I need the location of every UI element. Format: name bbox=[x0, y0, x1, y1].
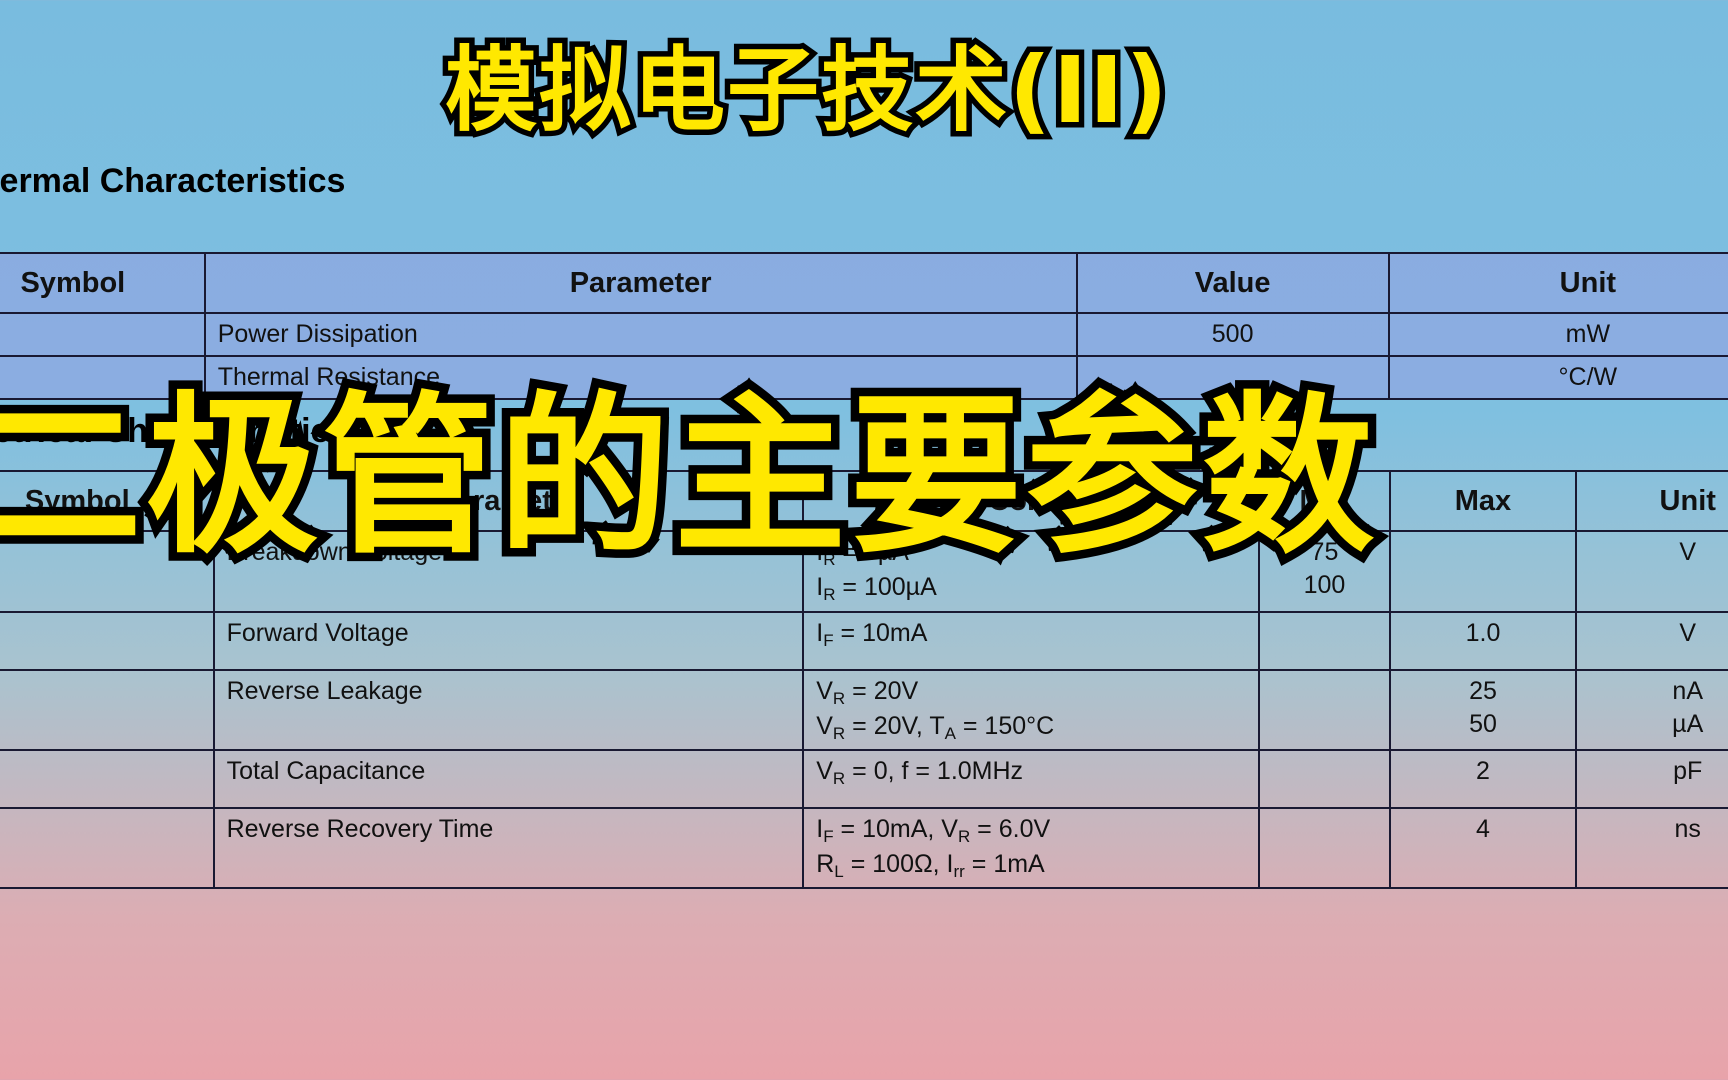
table-header-row: Symbol Parameter Value Unit bbox=[0, 253, 1728, 313]
cell-symbol bbox=[0, 670, 214, 750]
cell-test-conditions: IF = 10mA bbox=[803, 612, 1259, 670]
cell-unit: pF bbox=[1576, 750, 1728, 808]
cell-max: 1.0 bbox=[1390, 612, 1577, 670]
cell-unit: V bbox=[1576, 531, 1728, 611]
thermal-characteristics-heading: Thermal Characteristics bbox=[0, 162, 345, 201]
cell-max: 2 bbox=[1390, 750, 1577, 808]
cell-test-conditions: VR = 20VVR = 20V, TA = 150°C bbox=[803, 670, 1259, 750]
column-header-unit: Unit bbox=[1389, 253, 1728, 313]
cell-max bbox=[1390, 531, 1577, 611]
column-header-unit: Unit bbox=[1576, 471, 1728, 531]
cell-unit: mW bbox=[1389, 313, 1728, 356]
column-header-max: Max bbox=[1390, 471, 1577, 531]
cell-min bbox=[1259, 750, 1389, 808]
table-row: Reverse Recovery TimeIF = 10mA, VR = 6.0… bbox=[0, 808, 1728, 888]
topic-title-overlay: 二极管的主要参数 bbox=[0, 336, 1378, 586]
cell-unit: V bbox=[1576, 612, 1728, 670]
course-title-overlay: 模拟电子技术(II) bbox=[445, 16, 1170, 149]
cell-min bbox=[1259, 612, 1389, 670]
column-header-value: Value bbox=[1077, 253, 1389, 313]
cell-symbol bbox=[0, 750, 214, 808]
column-header-symbol: Symbol bbox=[0, 253, 205, 313]
cell-symbol bbox=[0, 612, 214, 670]
cell-parameter: Reverse Recovery Time bbox=[214, 808, 804, 888]
cell-test-conditions: IF = 10mA, VR = 6.0VRL = 100Ω, Irr = 1mA bbox=[803, 808, 1259, 888]
cell-max: 2550 bbox=[1390, 670, 1577, 750]
table-row: Total CapacitanceVR = 0, f = 1.0MHz2pF bbox=[0, 750, 1728, 808]
cell-unit: nAµA bbox=[1576, 670, 1728, 750]
cell-unit: °C/W bbox=[1389, 356, 1728, 399]
cell-min bbox=[1259, 808, 1389, 888]
cell-symbol bbox=[0, 808, 214, 888]
cell-parameter: Total Capacitance bbox=[214, 750, 804, 808]
cell-parameter: Forward Voltage bbox=[214, 612, 804, 670]
cell-max: 4 bbox=[1390, 808, 1577, 888]
cell-min bbox=[1259, 670, 1389, 750]
column-header-parameter: Parameter bbox=[205, 253, 1077, 313]
cell-parameter: Reverse Leakage bbox=[214, 670, 804, 750]
cell-test-conditions: VR = 0, f = 1.0MHz bbox=[803, 750, 1259, 808]
table-row: Forward VoltageIF = 10mA1.0V bbox=[0, 612, 1728, 670]
table-row: Reverse LeakageVR = 20VVR = 20V, TA = 15… bbox=[0, 670, 1728, 750]
cell-unit: ns bbox=[1576, 808, 1728, 888]
